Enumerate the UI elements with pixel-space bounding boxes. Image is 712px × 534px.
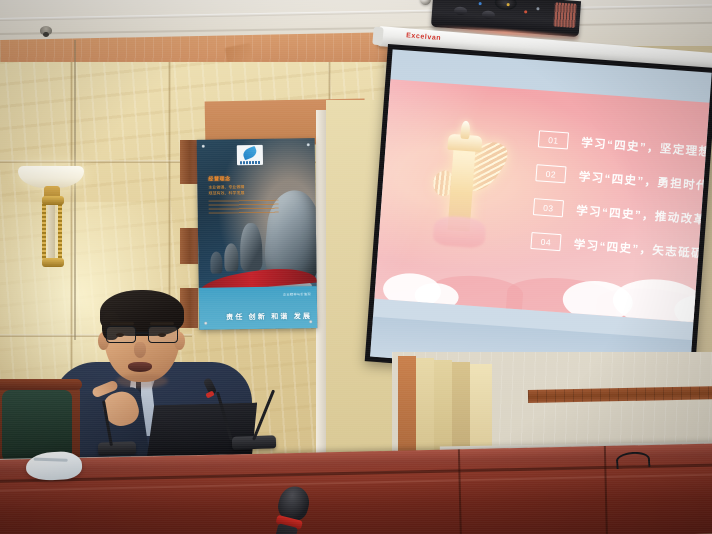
monument-emblem-icon (427, 119, 498, 243)
sconce-bead-chain (42, 202, 46, 260)
smoke-detector-icon (40, 26, 52, 35)
slide-item-number: 01 (538, 130, 569, 149)
eyeglass-bridge (136, 332, 148, 334)
conference-room-photo: 经营理念 主业做强、专业做精 规范有效、科学发展 企业精神与价值观 责任 创新 … (0, 0, 712, 534)
chandelier-ball (420, 0, 431, 5)
presentation-slide: 01 学习“四史”，坚定理想信念 02 学习“四史”，勇担时代使命 03 学习“… (374, 79, 709, 322)
projector-led-indicator (536, 7, 539, 10)
poster-logo-wordmark (240, 161, 260, 164)
microphone-base (98, 441, 136, 455)
chess-pawn-icon (224, 243, 238, 271)
wall-strip (416, 358, 434, 462)
monument-base (432, 215, 486, 249)
poster-mount-screw (307, 143, 310, 146)
sconce-bead-chain (58, 202, 62, 260)
poster-subtitle-line-2: 规范有效、科学发展 (208, 189, 280, 196)
poster-english-text-block (209, 200, 279, 214)
poster-mount-screw (309, 320, 312, 323)
chair-top-rail (0, 379, 82, 390)
wall-pillar-strip (180, 140, 198, 184)
wall-sconce-light (18, 166, 84, 296)
slide-list-item: 02 学习“四史”，勇担时代使命 (535, 164, 709, 196)
slide-item-list: 01 学习“四史”，坚定理想信念 02 学习“四史”，勇担时代使命 03 学习“… (529, 130, 709, 280)
slide-item-text: 学习“四史”，推动改革发展 (576, 202, 710, 229)
chess-pawn-icon (210, 251, 222, 273)
conference-desk (0, 443, 712, 534)
speaker-mouth (128, 362, 152, 372)
laptop-screen-back (145, 403, 258, 460)
poster-caption-small: 企业精神与价值观 (283, 291, 311, 296)
roller-brand-label: Excelvan (406, 32, 442, 42)
speaker-eyebrow (150, 322, 174, 325)
slide-list-item: 01 学习“四史”，坚定理想信念 (538, 130, 710, 162)
projector-led-indicator (479, 2, 482, 5)
speaker-chin-shadow (116, 374, 168, 388)
chess-bishop-icon (240, 223, 263, 271)
slide-item-number: 02 (535, 164, 566, 183)
speaker-nose (134, 342, 146, 358)
projector-vent-icon (553, 2, 577, 27)
slide-item-number: 04 (530, 232, 561, 251)
plastic-bag-crease (34, 458, 68, 462)
slide-item-text: 学习“四史”，坚定理想信念 (581, 134, 710, 161)
projection-screen-surface: 01 学习“四史”，坚定理想信念 02 学习“四史”，勇担时代使命 03 学习“… (370, 49, 712, 380)
slide-list-item: 04 学习“四史”，矢志砥砺前行 (530, 232, 709, 264)
monument-finial (460, 121, 470, 140)
speaker-eye (158, 333, 166, 337)
wall-strip (398, 356, 416, 460)
slide-item-text: 学习“四史”，矢志砥砺前行 (573, 236, 709, 263)
sconce-cuff (42, 196, 64, 205)
poster-title: 经营理念 (208, 175, 230, 182)
projector-knob (454, 6, 468, 15)
projector-knob (482, 10, 496, 19)
wall-vertical-trim (316, 110, 326, 460)
wall-pillar-strip (180, 228, 198, 264)
speaker-eye (116, 333, 124, 337)
slide-item-number: 03 (533, 198, 564, 217)
slide-item-text: 学习“四史”，勇担时代使命 (578, 168, 709, 195)
poster-logo-icon (237, 145, 263, 165)
poster-mount-screw (202, 145, 205, 148)
speaker-eyebrow (110, 322, 134, 325)
slide-list-item: 03 学习“四史”，推动改革发展 (533, 198, 710, 230)
sconce-cuff (42, 258, 64, 267)
poster-subtitle: 主业做强、专业做精 规范有效、科学发展 (208, 184, 280, 196)
projection-screen: 01 学习“四史”，坚定理想信念 02 学习“四史”，勇担时代使命 03 学习“… (365, 44, 712, 385)
sconce-stem (48, 200, 55, 264)
projector-led-indicator (524, 10, 527, 13)
sconce-shade-icon (18, 166, 84, 188)
poster-logo-swoosh-icon (242, 146, 259, 160)
roller-endcap (372, 27, 383, 46)
